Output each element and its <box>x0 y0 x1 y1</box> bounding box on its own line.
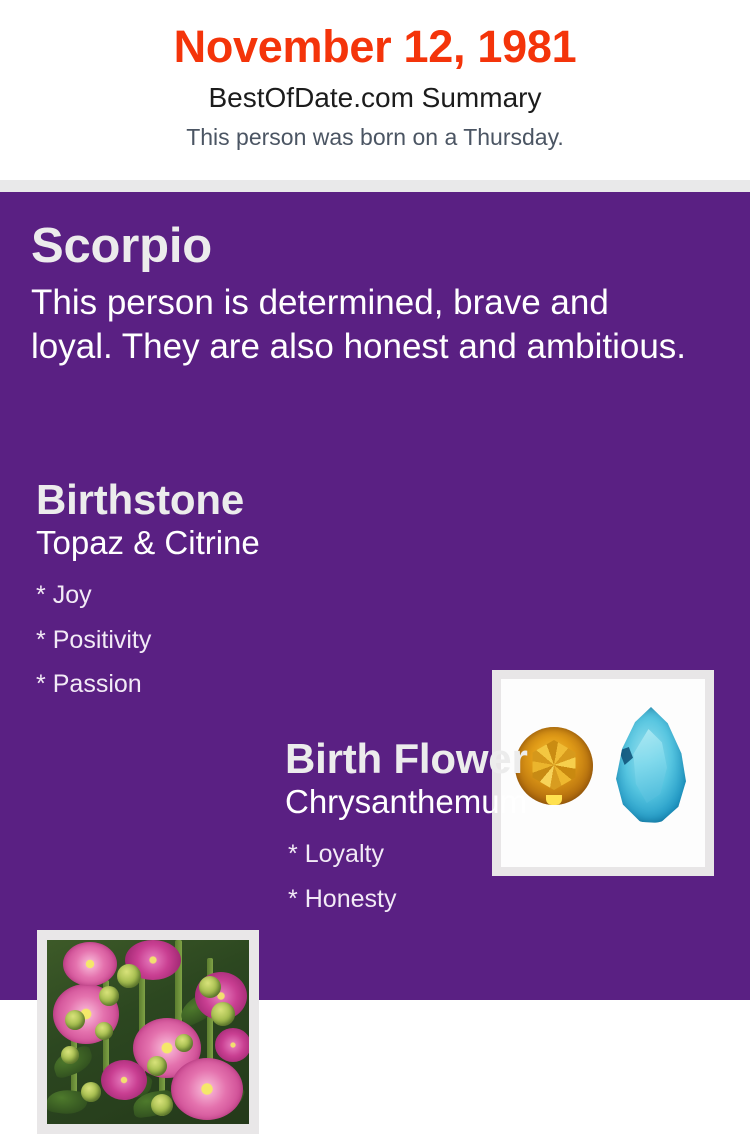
asterisk-icon: * <box>36 573 46 618</box>
list-item: *Loyalty <box>288 832 715 877</box>
flower-bud <box>95 1022 113 1040</box>
zodiac-description: This person is determined, brave and loy… <box>31 281 696 369</box>
list-item: *Passion <box>36 662 476 707</box>
birth-flower-subtitle: Chrysanthemum <box>285 783 715 822</box>
birthstone-section: Birthstone Topaz & Citrine *Joy *Positiv… <box>36 478 476 707</box>
site-summary-label: BestOfDate.com Summary <box>0 80 750 116</box>
trait-label: Honesty <box>305 885 397 913</box>
birth-flower-title: Birth Flower <box>285 737 715 781</box>
birthstone-trait-list: *Joy *Positivity *Passion <box>36 573 476 707</box>
list-item: *Honesty <box>288 877 715 922</box>
birth-flower-section: Birth Flower Chrysanthemum *Loyalty *Hon… <box>285 737 715 922</box>
born-day-note: This person was born on a Thursday. <box>0 123 750 153</box>
chrysanthemum-bloom <box>171 1058 243 1120</box>
flower-bud <box>199 976 221 998</box>
flower-bud <box>61 1046 79 1064</box>
flower-bud <box>65 1010 85 1030</box>
trait-label: Positivity <box>53 626 152 654</box>
birth-flower-image-frame <box>37 930 259 1134</box>
header-divider <box>0 180 750 192</box>
birth-flower-trait-list: *Loyalty *Honesty <box>285 832 715 922</box>
trait-label: Passion <box>53 670 142 698</box>
asterisk-icon: * <box>288 877 298 922</box>
chrysanthemum-bloom <box>215 1028 249 1062</box>
list-item: *Positivity <box>36 618 476 663</box>
asterisk-icon: * <box>288 832 298 877</box>
flower-bud <box>99 986 119 1006</box>
flower-bud <box>151 1094 173 1116</box>
flower-bud <box>175 1034 193 1052</box>
flower-bud <box>211 1002 235 1026</box>
header: November 12, 1981 BestOfDate.com Summary… <box>0 0 750 180</box>
flower-bud <box>117 964 141 988</box>
flower-bud <box>81 1082 101 1102</box>
chrysanthemum-bloom <box>101 1060 147 1100</box>
asterisk-icon: * <box>36 618 46 663</box>
page-title: November 12, 1981 <box>0 22 750 72</box>
birthstone-title: Birthstone <box>36 478 476 522</box>
birthstone-subtitle: Topaz & Citrine <box>36 524 476 563</box>
content-panel: Scorpio This person is determined, brave… <box>0 192 750 1000</box>
flower-bud <box>147 1056 167 1076</box>
chrysanthemum-bloom <box>63 942 117 986</box>
trait-label: Loyalty <box>305 840 384 868</box>
birth-flower-photo <box>47 940 249 1124</box>
summary-card: November 12, 1981 BestOfDate.com Summary… <box>0 0 750 1000</box>
trait-label: Joy <box>53 581 92 609</box>
list-item: *Joy <box>36 573 476 618</box>
asterisk-icon: * <box>36 662 46 707</box>
zodiac-title: Scorpio <box>31 222 721 271</box>
zodiac-section: Scorpio This person is determined, brave… <box>31 222 721 369</box>
